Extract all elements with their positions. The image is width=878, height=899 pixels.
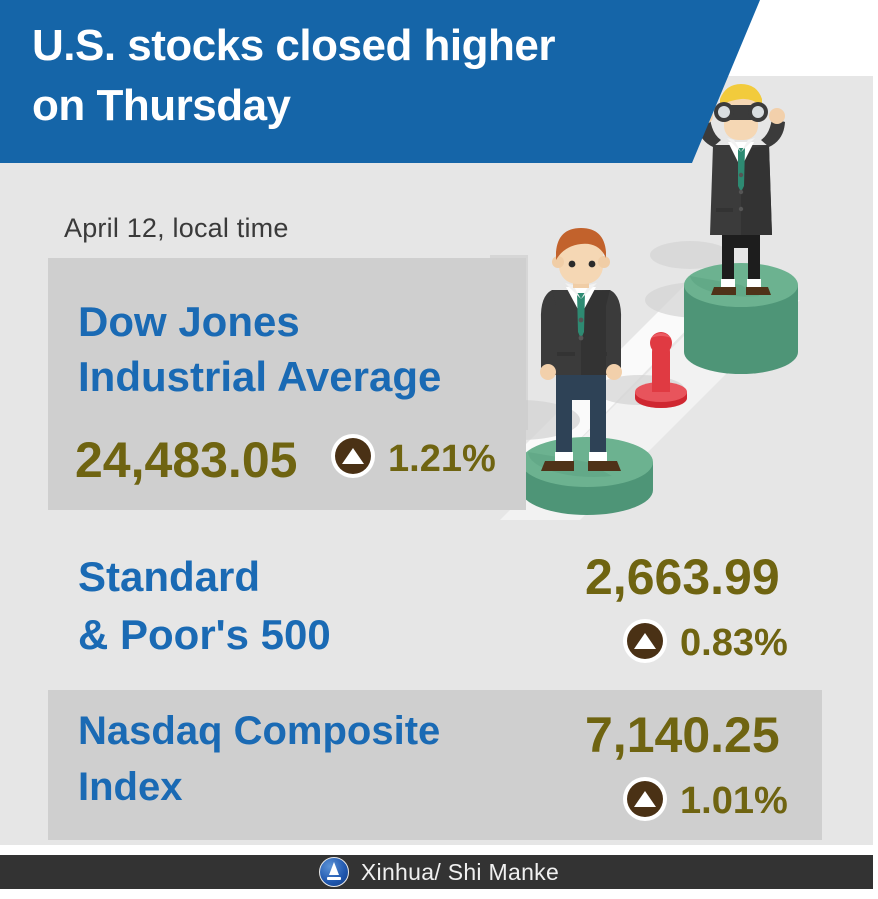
index-name-dow-jones: Dow Jones Industrial Average bbox=[78, 294, 441, 404]
index-name-nasdaq: Nasdaq Composite Index bbox=[78, 703, 440, 815]
xinhua-logo-icon bbox=[319, 857, 349, 887]
date-label: April 12, local time bbox=[64, 213, 289, 244]
index-value-sp500: 2,663.99 bbox=[585, 548, 780, 606]
index-name-sp500: Standard & Poor's 500 bbox=[78, 548, 331, 664]
triangle-up-glyph bbox=[634, 633, 656, 649]
footer-bar: Xinhua/ Shi Manke bbox=[0, 855, 878, 889]
arrow-disc bbox=[627, 781, 663, 817]
triangle-up-glyph bbox=[342, 448, 364, 464]
infographic-root: U.S. stocks closed higher on Thursday Ap… bbox=[0, 0, 878, 899]
background-right-strip bbox=[873, 0, 878, 899]
index-change-sp500: 0.83% bbox=[680, 622, 788, 665]
pagoda-base-glyph bbox=[327, 877, 341, 880]
pagoda-glyph bbox=[329, 862, 339, 875]
arrow-up-icon-dow-jones bbox=[331, 434, 375, 478]
footer-credit: Xinhua/ Shi Manke bbox=[361, 859, 559, 886]
background-bottom-strip bbox=[0, 889, 878, 899]
index-value-dow-jones: 24,483.05 bbox=[75, 431, 297, 489]
arrow-up-icon-nasdaq bbox=[623, 777, 667, 821]
arrow-disc bbox=[627, 623, 663, 659]
arrow-disc bbox=[335, 438, 371, 474]
index-change-dow-jones: 1.21% bbox=[388, 438, 496, 481]
page-title: U.S. stocks closed higher on Thursday bbox=[32, 16, 712, 136]
arrow-up-icon-sp500 bbox=[623, 619, 667, 663]
index-value-nasdaq: 7,140.25 bbox=[585, 706, 780, 764]
triangle-up-glyph bbox=[634, 791, 656, 807]
index-change-nasdaq: 1.01% bbox=[680, 780, 788, 823]
